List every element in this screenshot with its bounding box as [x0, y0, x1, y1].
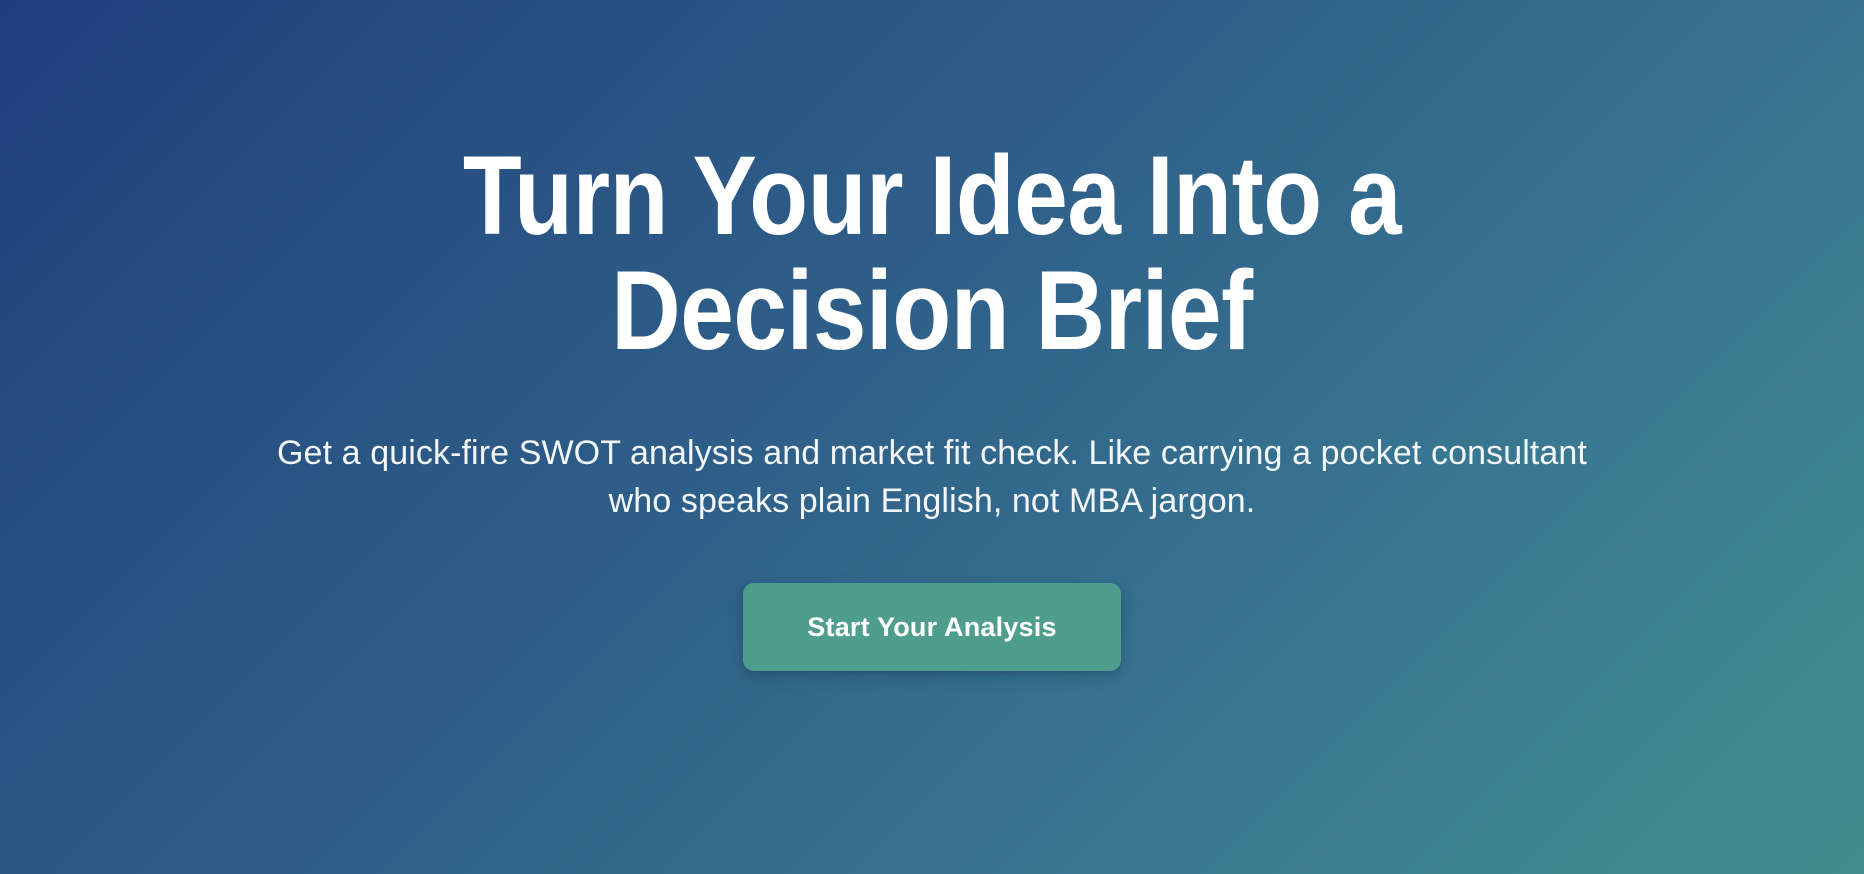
cta-container: Start Your Analysis	[60, 583, 1804, 671]
hero-section: Turn Your Idea Into a Decision Brief Get…	[0, 0, 1864, 874]
hero-subtitle: Get a quick-fire SWOT analysis and marke…	[257, 429, 1607, 526]
start-analysis-button[interactable]: Start Your Analysis	[743, 583, 1121, 671]
page-title: Turn Your Idea Into a Decision Brief	[450, 138, 1413, 369]
hero-content: Turn Your Idea Into a Decision Brief Get…	[0, 0, 1864, 671]
